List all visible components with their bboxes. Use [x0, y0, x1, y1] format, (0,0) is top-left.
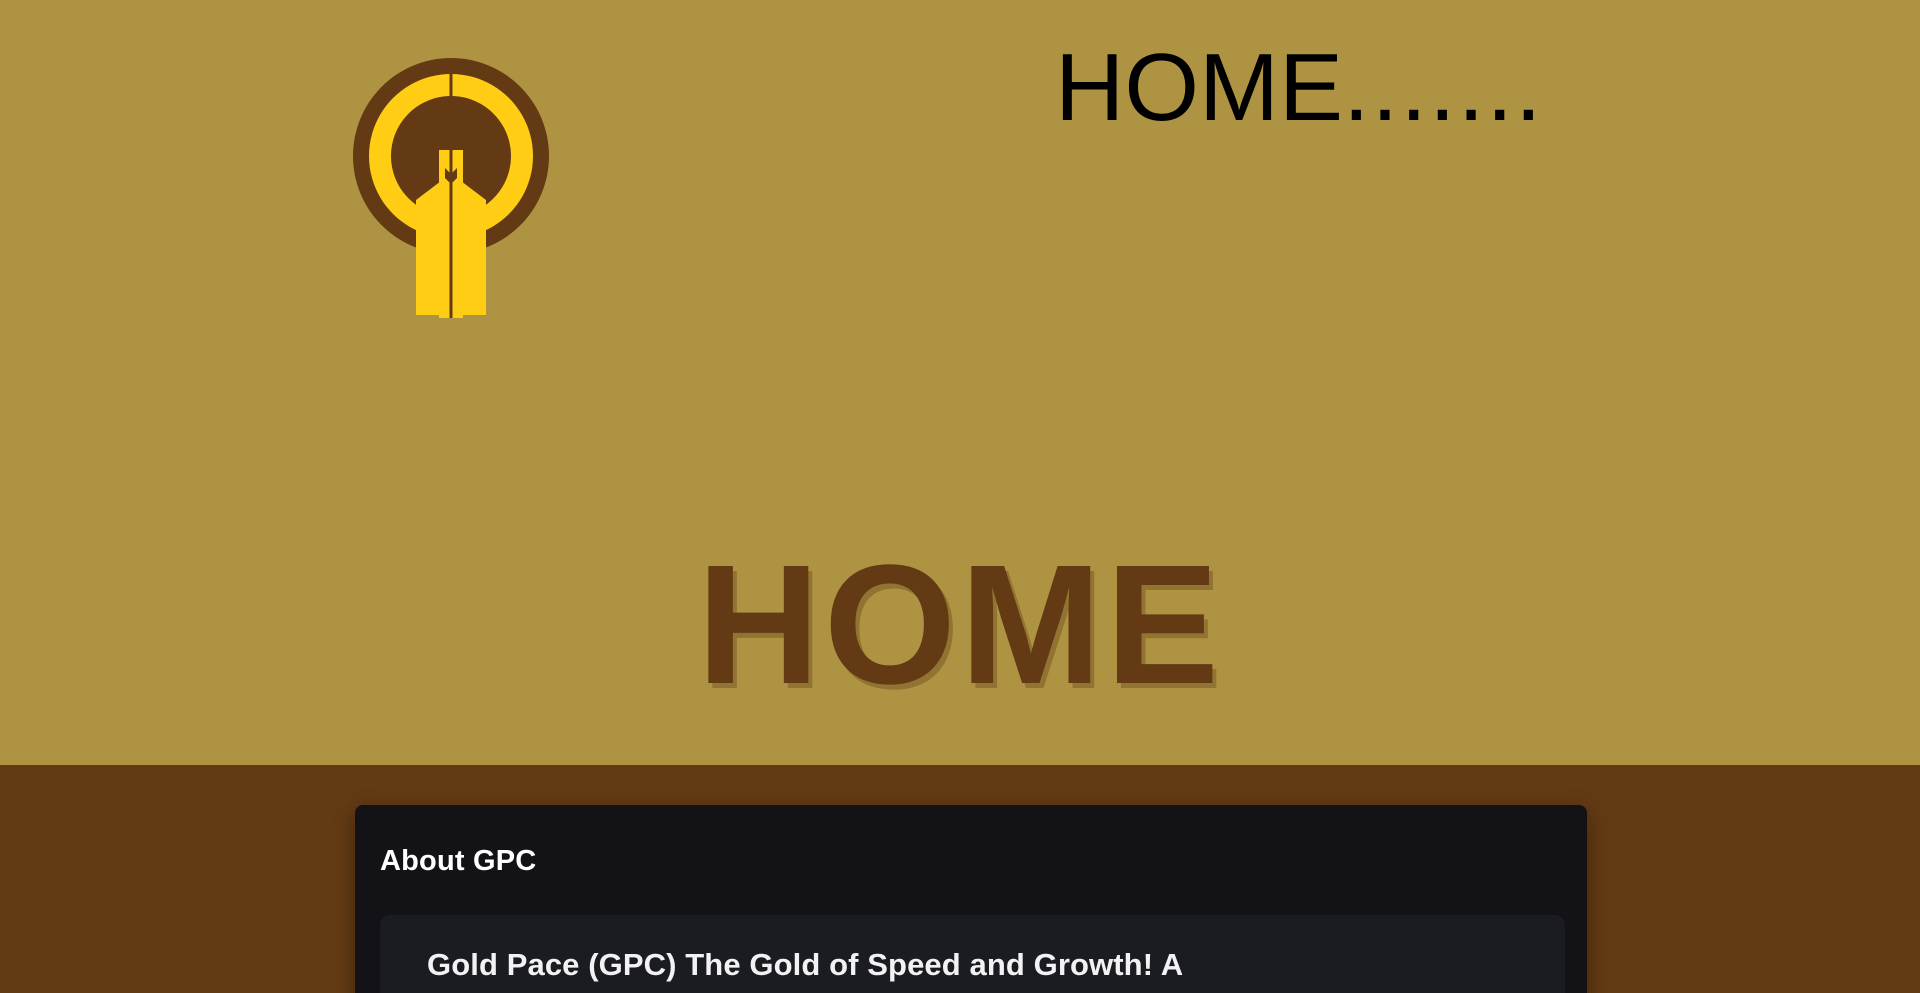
nav-item-home[interactable]: HOME [1055, 36, 1343, 140]
main-nav: HOME ....... [1055, 36, 1544, 140]
gold-pace-coin-logo-icon [353, 50, 593, 318]
about-card-text: Gold Pace (GPC) The Gold of Speed and Gr… [427, 943, 1527, 988]
top-bar: HOME ....... [0, 0, 1920, 330]
about-gpc-card: About GPC Gold Pace (GPC) The Gold of Sp… [355, 805, 1587, 993]
about-card-body: Gold Pace (GPC) The Gold of Speed and Gr… [380, 915, 1565, 993]
about-card-title: About GPC [380, 845, 536, 878]
page-root: HOME ....... HOME About GPC Gold Pace (G… [0, 0, 1920, 993]
page-title: HOME [0, 540, 1920, 710]
site-logo[interactable] [353, 50, 593, 318]
hero-section: HOME ....... HOME [0, 0, 1920, 765]
nav-trailing-dots: ....... [1343, 36, 1544, 140]
